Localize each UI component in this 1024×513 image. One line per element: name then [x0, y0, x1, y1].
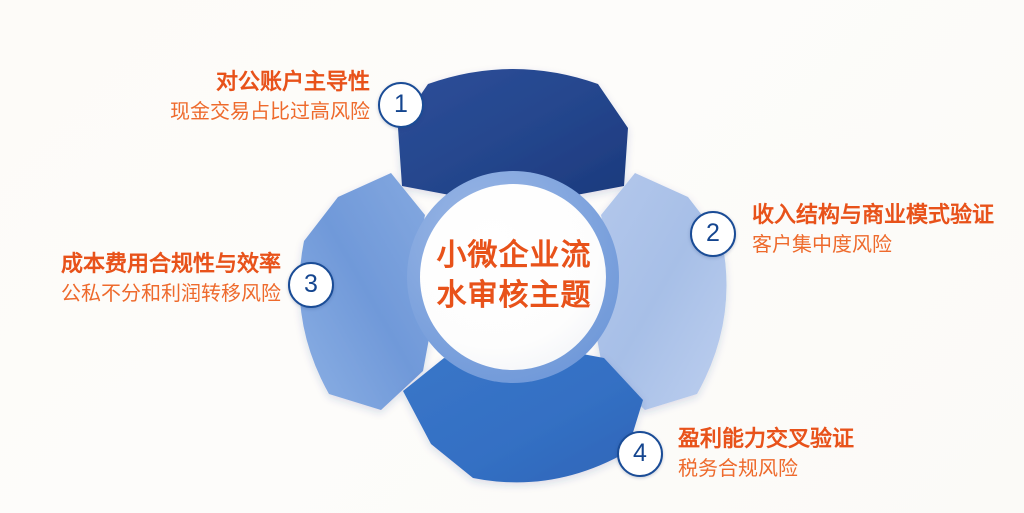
segment-1-number: 1 [394, 92, 408, 117]
segment-3-number-badge[interactable]: 3 [288, 262, 334, 308]
segment-4-number: 4 [633, 441, 647, 466]
segment-4-title: 盈利能力交叉验证 [678, 425, 1024, 453]
segment-4-number-badge[interactable]: 4 [617, 431, 663, 477]
segment-3-title: 成本费用合规性与效率 [0, 250, 281, 278]
hub-title-line-1: 小微企业流 [418, 236, 610, 276]
segment-4-label[interactable]: 盈利能力交叉验证 税务合规风险 [678, 425, 1024, 483]
diagram-canvas: 小微企业流 水审核主题 1 2 3 4 对公账户主导性 现金交易占比过高风险 收… [0, 0, 1024, 513]
segment-1-label[interactable]: 对公账户主导性 现金交易占比过高风险 [0, 68, 370, 126]
segment-2-title: 收入结构与商业模式验证 [752, 201, 1024, 229]
segment-1-subtitle: 现金交易占比过高风险 [0, 99, 370, 126]
hub-title-line-2: 水审核主题 [418, 276, 610, 316]
segment-3-subtitle: 公私不分和利润转移风险 [0, 281, 281, 308]
segment-4-subtitle: 税务合规风险 [678, 456, 1024, 483]
segment-1-title: 对公账户主导性 [0, 68, 370, 96]
segment-1-number-badge[interactable]: 1 [378, 82, 424, 128]
segment-2-label[interactable]: 收入结构与商业模式验证 客户集中度风险 [752, 201, 1024, 259]
segment-3-label[interactable]: 成本费用合规性与效率 公私不分和利润转移风险 [0, 250, 281, 308]
segment-2-subtitle: 客户集中度风险 [752, 232, 1024, 259]
segment-3-number: 3 [304, 272, 318, 297]
segment-2-number-badge[interactable]: 2 [690, 211, 736, 257]
hub-title: 小微企业流 水审核主题 [418, 236, 610, 316]
segment-2-number: 2 [706, 221, 720, 246]
